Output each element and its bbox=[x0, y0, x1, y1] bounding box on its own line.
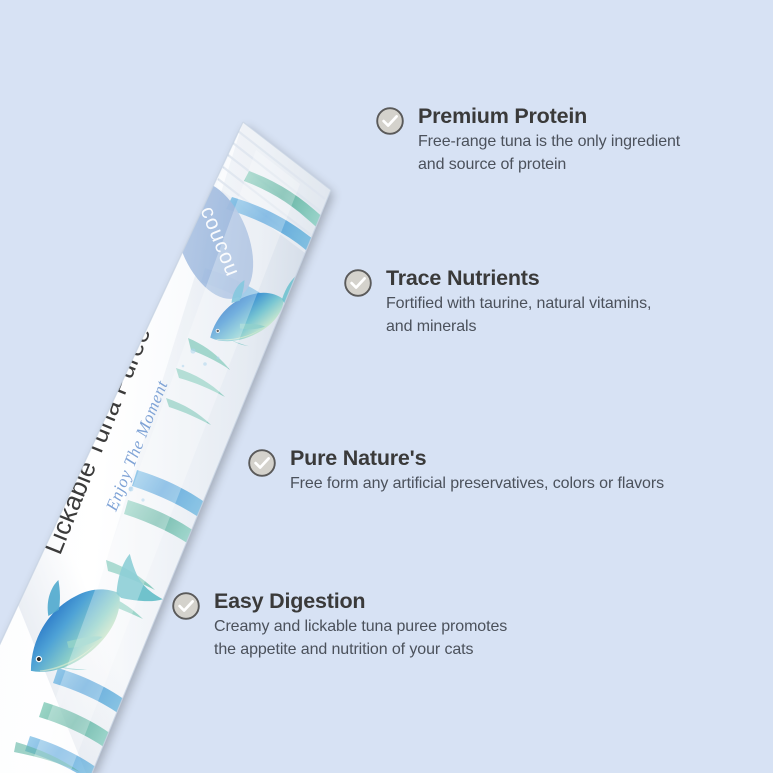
product-name-text: Lickable Tuna Purée bbox=[38, 322, 157, 558]
brand-name-text: coucou bbox=[196, 203, 245, 280]
tuna-fish-illustration-lower bbox=[0, 537, 170, 697]
check-circle-icon bbox=[171, 591, 201, 621]
feature-description: Free-range tuna is the only ingredient a… bbox=[418, 131, 755, 176]
package-top-seal bbox=[218, 131, 325, 247]
infographic-canvas: coucou bbox=[0, 0, 773, 773]
feature-item-easy-digestion: Easy Digestion Creamy and lickable tuna … bbox=[171, 589, 591, 662]
feature-text-block: Easy Digestion Creamy and lickable tuna … bbox=[214, 589, 591, 662]
feature-item-premium-protein: Premium Protein Free-range tuna is the o… bbox=[375, 104, 755, 177]
feature-text-block: Premium Protein Free-range tuna is the o… bbox=[418, 104, 755, 177]
feature-item-pure-natures: Pure Nature's Free form any artificial p… bbox=[247, 446, 737, 496]
check-circle-icon bbox=[343, 268, 373, 298]
brand-badge bbox=[159, 170, 268, 310]
check-circle-icon bbox=[247, 448, 277, 478]
product-tagline-text: Enjoy The Moment bbox=[102, 377, 172, 515]
feature-text-block: Trace Nutrients Fortified with taurine, … bbox=[386, 266, 743, 339]
feature-description: Free form any artificial preservatives, … bbox=[290, 473, 737, 496]
feature-title: Easy Digestion bbox=[214, 589, 591, 613]
tuna-fish-illustration-upper bbox=[195, 261, 316, 359]
feature-title: Premium Protein bbox=[418, 104, 755, 128]
check-circle-icon bbox=[375, 106, 405, 136]
feature-text-block: Pure Nature's Free form any artificial p… bbox=[290, 446, 737, 496]
bubble-decoration bbox=[118, 348, 220, 506]
feature-description: Creamy and lickable tuna puree promotes … bbox=[214, 616, 591, 661]
feature-description: Fortified with taurine, natural vitamins… bbox=[386, 293, 743, 338]
feature-title: Trace Nutrients bbox=[386, 266, 743, 290]
feature-item-trace-nutrients: Trace Nutrients Fortified with taurine, … bbox=[343, 266, 743, 339]
feature-title: Pure Nature's bbox=[290, 446, 737, 470]
